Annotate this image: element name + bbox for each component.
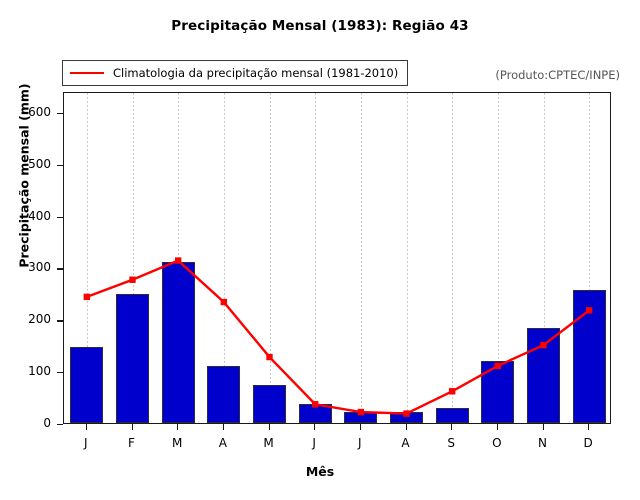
plot-area <box>63 92 611 424</box>
climatology-line-series <box>64 93 612 425</box>
line-marker <box>129 277 135 283</box>
x-tick-label: J <box>66 436 106 450</box>
line-marker <box>495 363 501 369</box>
x-tick-label: F <box>112 436 152 450</box>
y-tick-label: 600 <box>7 105 51 119</box>
y-tick-label: 100 <box>7 364 51 378</box>
x-tick-label: A <box>203 436 243 450</box>
x-tick-label: D <box>568 436 608 450</box>
line-marker <box>449 388 455 394</box>
legend-label: Climatologia da precipitação mensal (198… <box>113 66 398 80</box>
line-marker <box>540 342 546 348</box>
line-marker <box>84 294 90 300</box>
chart-legend: Climatologia da precipitação mensal (198… <box>62 60 408 86</box>
x-tick-label: M <box>157 436 197 450</box>
y-tick-mark <box>57 424 63 425</box>
line-marker <box>312 401 318 407</box>
line-marker <box>586 307 592 313</box>
x-tick-label: A <box>386 436 426 450</box>
line-marker <box>266 354 272 360</box>
chart-figure: Precipitação Mensal (1983): Região 43 (P… <box>0 0 640 500</box>
chart-title: Precipitação Mensal (1983): Região 43 <box>0 18 640 34</box>
x-axis-title: Mês <box>0 464 640 479</box>
legend-line-swatch <box>70 72 104 74</box>
y-tick-label: 0 <box>7 416 51 430</box>
x-tick-label: M <box>249 436 289 450</box>
x-tick-label: N <box>523 436 563 450</box>
line-marker <box>403 410 409 416</box>
y-tick-label: 200 <box>7 312 51 326</box>
y-tick-label: 300 <box>7 260 51 274</box>
x-tick-label: O <box>477 436 517 450</box>
x-tick-label: J <box>294 436 334 450</box>
line-marker <box>221 299 227 305</box>
x-tick-label: S <box>431 436 471 450</box>
line-marker <box>358 409 364 415</box>
climatology-line <box>87 261 589 414</box>
line-marker <box>175 257 181 263</box>
y-tick-label: 500 <box>7 157 51 171</box>
product-annotation: (Produto:CPTEC/INPE) <box>495 68 620 82</box>
plot-inner <box>64 93 610 423</box>
y-tick-label: 400 <box>7 209 51 223</box>
x-tick-label: J <box>340 436 380 450</box>
